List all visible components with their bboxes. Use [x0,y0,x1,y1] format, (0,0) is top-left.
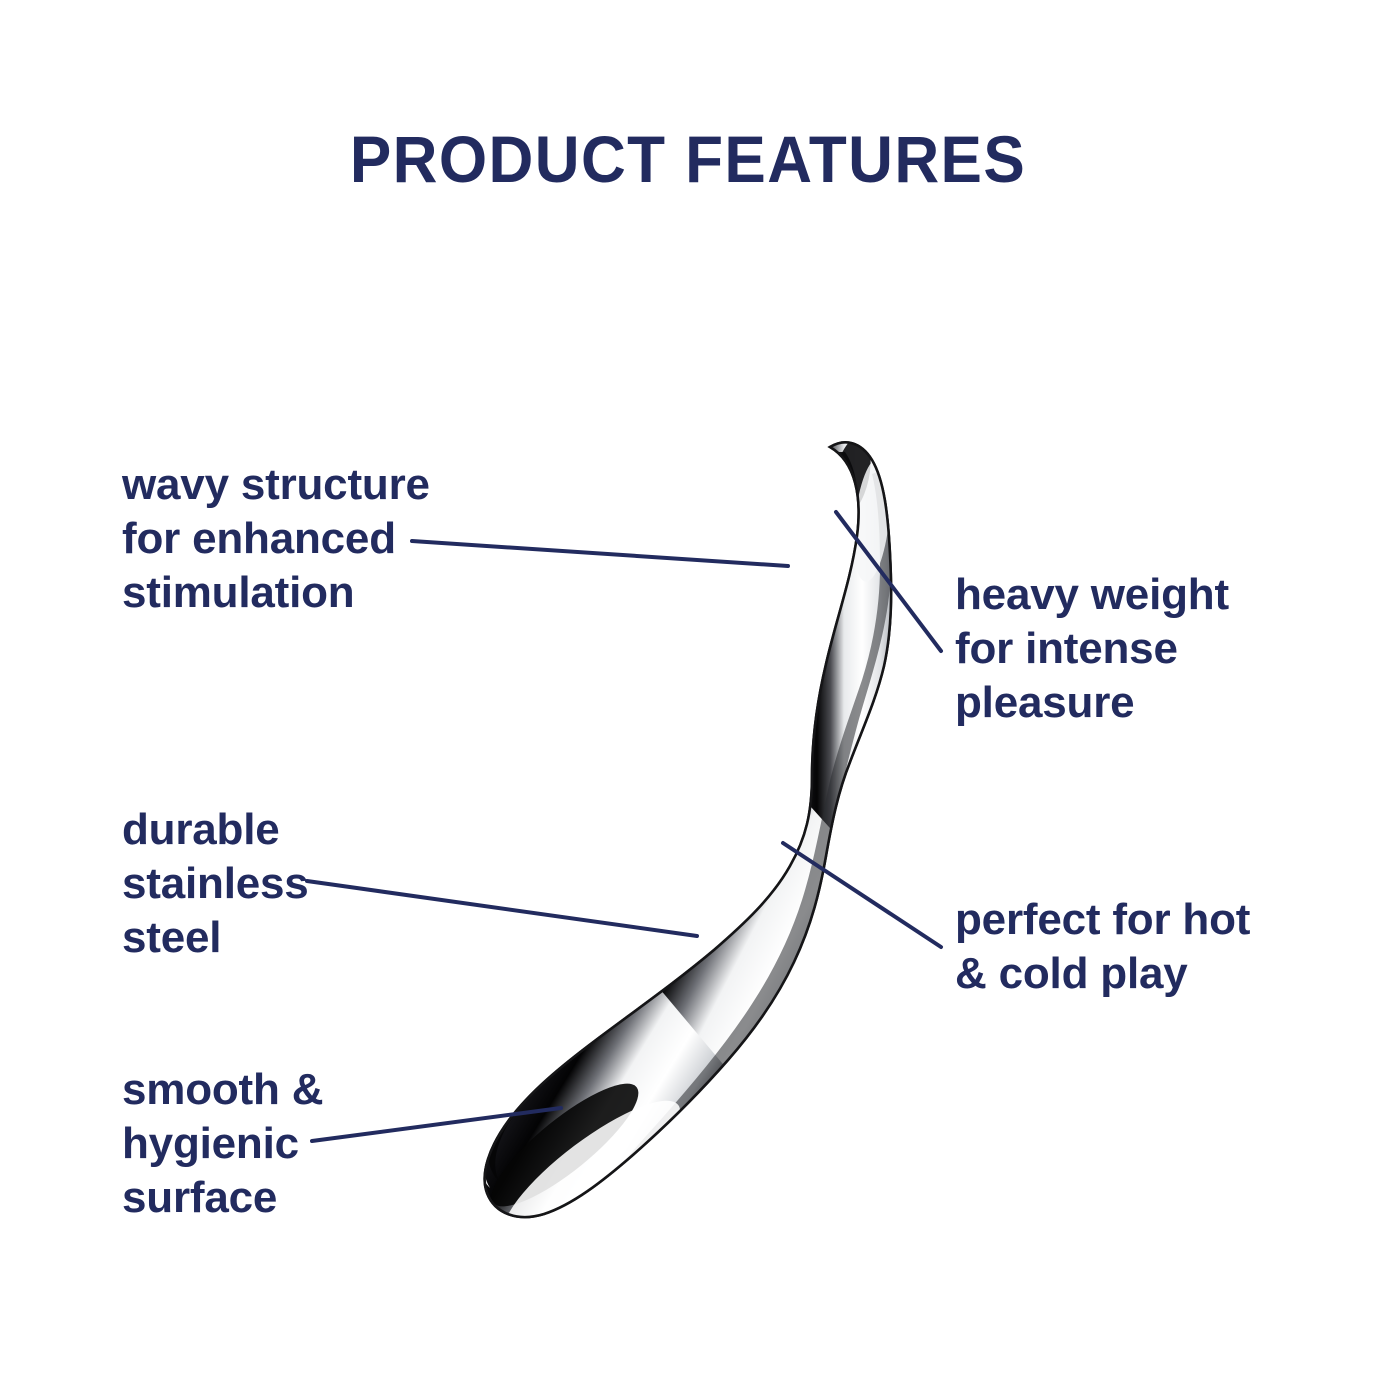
feature-label-wavy-structure: wavy structure for enhanced stimulation [122,458,430,620]
feature-line: for enhanced [122,512,430,566]
feature-label-hot-cold-play: perfect for hot & cold play [955,893,1250,1001]
product-features-infographic: PRODUCT FEATURES [0,0,1376,1376]
feature-line: stimulation [122,566,430,620]
feature-line: for intense [955,622,1229,676]
feature-line: heavy weight [955,568,1229,622]
feature-line: hygienic [122,1117,323,1171]
feature-line: stainless [122,857,309,911]
feature-line: & cold play [955,947,1250,1001]
feature-line: pleasure [955,676,1229,730]
feature-line: surface [122,1171,323,1225]
feature-label-durable-stainless-steel: durable stainless steel [122,803,309,965]
leader-durable-stainless-steel [307,881,697,936]
leader-wavy-structure [412,541,788,566]
feature-line: durable [122,803,309,857]
feature-line: steel [122,911,309,965]
feature-label-heavy-weight: heavy weight for intense pleasure [955,568,1229,730]
feature-label-smooth-hygienic-surface: smooth & hygienic surface [122,1063,323,1225]
product-body [391,430,910,1313]
feature-line: perfect for hot [955,893,1250,947]
feature-line: smooth & [122,1063,323,1117]
feature-line: wavy structure [122,458,430,512]
